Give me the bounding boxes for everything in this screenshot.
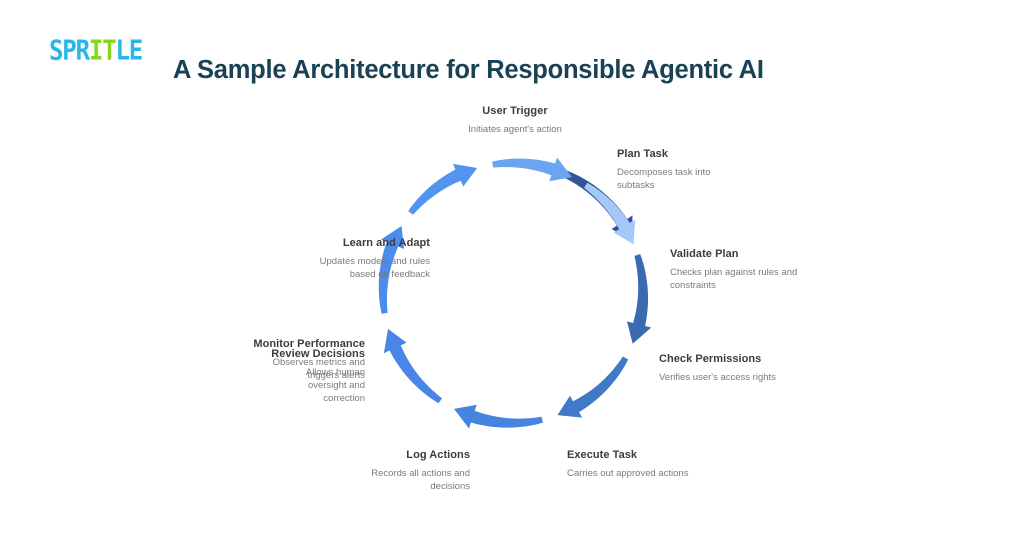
node-title: Learn and Adapt	[300, 236, 430, 251]
arrow-group	[379, 157, 652, 428]
node-title: Monitor Performance	[245, 337, 365, 352]
node-title: Validate Plan	[670, 247, 810, 262]
logo-text-part-3: LE	[115, 34, 142, 66]
arrow-8	[492, 157, 572, 181]
node-description: Carries out approved actions	[567, 467, 697, 480]
node-validate-plan: Validate Plan Checks plan against rules …	[670, 247, 810, 292]
node-title: Execute Task	[567, 448, 697, 463]
node-monitor-performance: Monitor Performance Observes metrics and…	[245, 337, 365, 382]
arrow-3	[557, 357, 628, 418]
page-header: SPRITLE A Sample Architecture for Respon…	[0, 0, 1024, 95]
node-title: Check Permissions	[659, 352, 799, 367]
arrow-7	[408, 164, 477, 215]
cycle-diagram: User Trigger Initiates agent's action Pl…	[0, 95, 1024, 538]
node-title: User Trigger	[430, 104, 600, 119]
node-log-actions: Log Actions Records all actions and deci…	[345, 448, 470, 493]
arrow-5	[384, 329, 442, 403]
logo-text-part-1: SPR	[49, 34, 89, 66]
node-description: Updates models and rules based on feedba…	[300, 255, 430, 282]
logo-text-part-2: IT	[89, 34, 116, 66]
arrow-2	[627, 254, 651, 344]
node-user-trigger: User Trigger Initiates agent's action	[430, 104, 600, 136]
node-learn-and-adapt: Learn and Adapt Updates models and rules…	[300, 236, 430, 281]
node-description: Observes metrics and triggers alerts	[245, 356, 365, 383]
node-description: Records all actions and decisions	[345, 467, 470, 494]
cycle-arrow-ring	[0, 95, 1024, 538]
node-title: Plan Task	[617, 147, 747, 162]
spritle-logo: SPRITLE	[49, 36, 142, 64]
node-description: Initiates agent's action	[430, 123, 600, 136]
node-description: Verifies user's access rights	[659, 371, 799, 384]
node-check-permissions: Check Permissions Verifies user's access…	[659, 352, 799, 384]
arrow-4	[454, 405, 543, 429]
node-description: Checks plan against rules and constraint…	[670, 266, 810, 293]
node-plan-task: Plan Task Decomposes task into subtasks	[617, 147, 747, 192]
node-execute-task: Execute Task Carries out approved action…	[567, 448, 697, 480]
node-description: Decomposes task into subtasks	[617, 166, 747, 193]
node-title: Log Actions	[345, 448, 470, 463]
page-title: A Sample Architecture for Responsible Ag…	[173, 56, 764, 85]
